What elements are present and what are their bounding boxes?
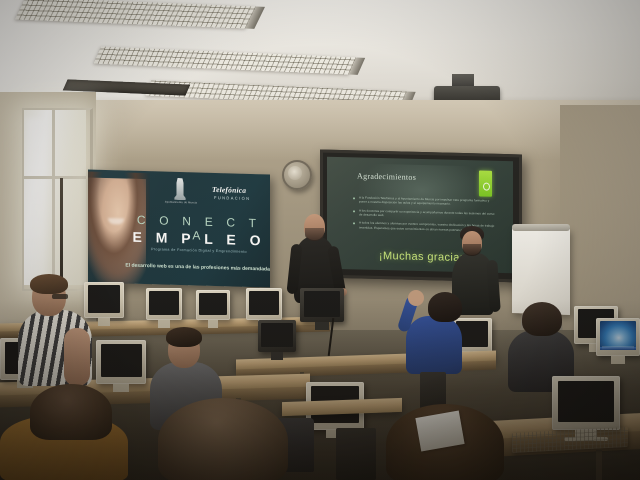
- presenter-right-beard: [463, 244, 481, 256]
- slide-title: Agradecimientos: [357, 171, 416, 181]
- room-shadow-overlay: [0, 300, 640, 480]
- window-frame: [22, 108, 93, 291]
- conecta-empleo-banner: Ayuntamiento de Murcia Telefónica FUNDAC…: [88, 169, 270, 287]
- telefonica-fundacion-label: FUNDACIÓN: [214, 195, 250, 201]
- telefonica-logo-text: Telefónica: [212, 185, 246, 195]
- clock-face-icon: [288, 166, 302, 180]
- glasses-icon: [52, 294, 68, 299]
- blind-rod: [60, 178, 63, 290]
- banner-crest-caption: Ayuntamiento de Murcia: [160, 200, 202, 205]
- wall-clock: [282, 160, 312, 190]
- slide-bullet: A los docentes por compartir su experien…: [353, 208, 495, 220]
- window-mullion-horizontal: [24, 176, 86, 179]
- murcia-crest-icon: [172, 178, 188, 200]
- flipchart-clamp: [512, 224, 570, 231]
- student-hair: [30, 274, 68, 294]
- presenter-left-beard: [305, 228, 324, 241]
- window-mullion-vertical: [52, 110, 55, 285]
- classroom-photo: Ayuntamiento de Murcia Telefónica FUNDAC…: [0, 0, 640, 480]
- slide-green-logo-icon: [479, 170, 492, 196]
